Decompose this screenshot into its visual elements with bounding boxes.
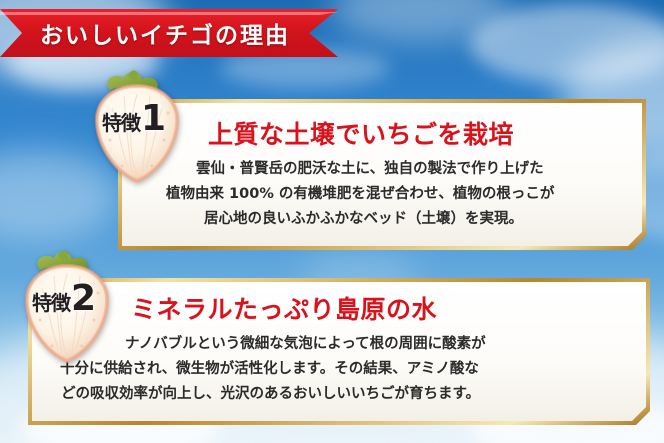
feature-2-badge-text: 特徴 (32, 287, 70, 316)
feature-2-heading: ミネラルたっぷり島原の水 (131, 290, 437, 326)
feature-1-body-line: 植物由来 100% の有機堆肥を混ぜ合わせ、植物の根っこが (166, 182, 554, 203)
feature-2-badge-label: 特徴 2 (32, 281, 96, 317)
feature-2-badge-number: 2 (71, 281, 96, 317)
feature-1-badge-label: 特徴 1 (102, 101, 166, 137)
feature-1-badge-text: 特徴 (102, 107, 140, 136)
feature-1-body-line: 居心地の良いふかふかなベッド（土壌）を実現。 (204, 207, 523, 228)
feature-1-content: 上質な土壌でいちごを栽培 雲仙・普賢岳の肥沃な土に、独自の製法で作り上げた 植物… (118, 99, 646, 250)
feature-2-body-line: ナノバブルという微細な気泡によって根の周囲に酸素が (125, 332, 486, 353)
banner-title: おいしいイチゴの理由 (0, 9, 330, 57)
title-banner: おいしいイチゴの理由 (0, 9, 338, 57)
feature-2-body-line: 十分に供給され、微生物が活性化します。その結果、アミノ酸な (60, 357, 479, 378)
feature-2-body-line: どの吸収効率が向上し、光沢のあるおいしいいちごが育ちます。 (61, 382, 480, 403)
feature-1-body-line: 雲仙・普賢岳の肥沃な土に、独自の製法で作り上げた (196, 157, 544, 178)
feature-1-badge-number: 1 (141, 101, 166, 137)
poster-root: おいしいイチゴの理由 上質な土壌でいちごを栽培 雲仙・普賢岳の肥沃な土に、独自の… (0, 0, 664, 443)
feature-1-heading: 上質な土壌でいちごを栽培 (208, 115, 514, 151)
